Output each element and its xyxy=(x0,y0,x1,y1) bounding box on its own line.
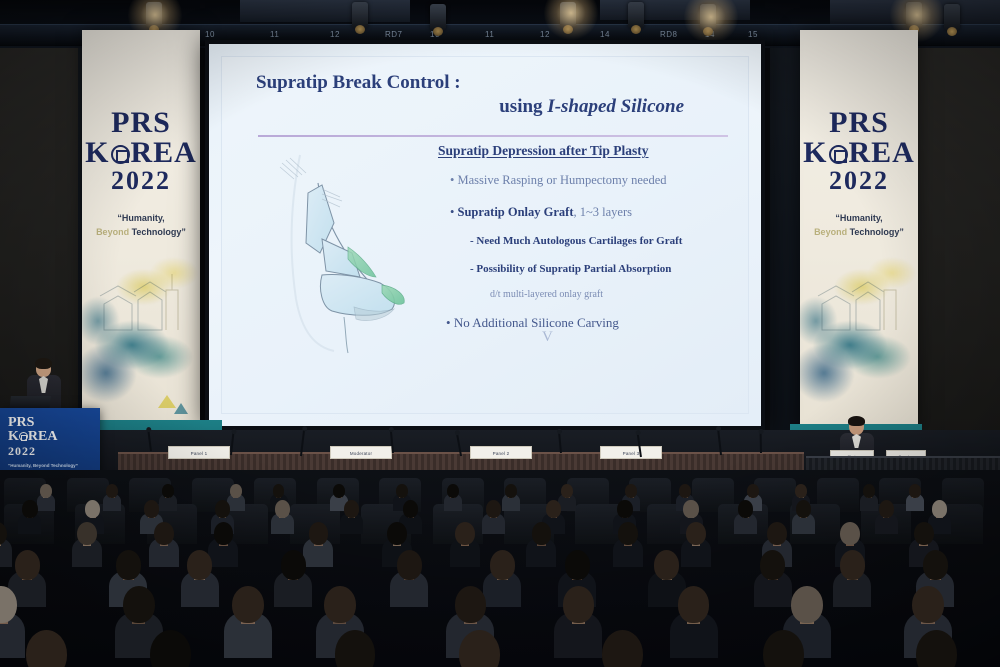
audience-head xyxy=(863,484,875,498)
audience-member xyxy=(734,500,757,537)
screen-surface: Supratip Break Control : using I-shaped … xyxy=(209,44,761,426)
audience-member xyxy=(906,484,924,513)
audience-head xyxy=(215,500,230,518)
audience-head xyxy=(763,630,804,667)
moderator-hair xyxy=(848,416,865,426)
audience-head xyxy=(273,484,285,498)
audience-head xyxy=(565,550,590,580)
banner-year-text: 2022 xyxy=(82,168,200,194)
audience-head xyxy=(654,550,679,580)
panel-nameplate: Panel 2 xyxy=(470,446,532,459)
banner-triangle xyxy=(174,403,188,414)
audience-head xyxy=(747,484,759,498)
ceiling-slab xyxy=(600,0,750,20)
audience-member xyxy=(224,586,272,663)
slide-bullet-6: • No Additional Silicone Carving xyxy=(446,315,619,331)
slide-title: Supratip Break Control : using I-shaped … xyxy=(256,71,728,120)
stage-light-icon xyxy=(628,2,644,28)
audience-member xyxy=(613,522,643,570)
presentation-slide: Supratip Break Control : using I-shaped … xyxy=(221,56,749,414)
conference-hall-photo: 101112RD710111214RD81415 PRS KREA 2022 “… xyxy=(0,0,1000,667)
audience-head xyxy=(602,630,643,667)
banner-left: PRS KREA 2022 “Humanity, Beyond Technolo… xyxy=(82,30,200,430)
audience-head xyxy=(617,500,632,518)
audience-member xyxy=(18,500,41,537)
stage-light-icon xyxy=(146,2,162,28)
audience-member xyxy=(526,522,556,570)
korea-emblem-icon xyxy=(19,432,28,441)
stage-light-icon xyxy=(944,4,960,30)
audience-head xyxy=(618,522,638,545)
slide-bullet-4: - Possibility of Supratip Partial Absorp… xyxy=(470,263,671,275)
audience-head xyxy=(309,522,329,545)
audience-member xyxy=(482,500,505,537)
audience-head xyxy=(154,522,174,545)
korea-emblem-icon xyxy=(111,145,130,164)
audience-head xyxy=(767,522,787,545)
slide-section-heading: Supratip Depression after Tip Plasty xyxy=(438,143,649,159)
audience-head xyxy=(403,500,418,518)
audience-member xyxy=(450,522,480,570)
audience-head xyxy=(678,586,710,623)
presenter-hair xyxy=(35,358,52,369)
projection-screen: Supratip Break Control : using I-shaped … xyxy=(205,40,765,430)
audience-head xyxy=(344,500,359,518)
stage-light-icon xyxy=(906,2,922,28)
audience-head xyxy=(162,484,174,498)
audience-member xyxy=(181,550,219,611)
audience-head xyxy=(150,630,191,667)
audience-member xyxy=(16,630,78,667)
audience-member xyxy=(139,630,201,667)
audience-member xyxy=(875,500,898,537)
audience-head xyxy=(77,522,97,545)
panel-nameplate: Moderator xyxy=(330,446,392,459)
audience-member xyxy=(444,484,462,513)
banner-year-text: 2022 xyxy=(800,168,918,194)
audience-member xyxy=(274,550,312,611)
podium-year-text: 2022 xyxy=(8,445,57,457)
audience-member xyxy=(670,586,718,663)
truss-marker: 11 xyxy=(485,30,494,39)
audience-head xyxy=(932,500,947,518)
truss-marker: 10 xyxy=(205,30,215,39)
audience-head xyxy=(396,484,408,498)
audience-member xyxy=(103,484,121,513)
title-divider xyxy=(258,135,728,137)
audience-head xyxy=(459,630,500,667)
podium-prs-text: PRS xyxy=(8,416,57,430)
audience-head xyxy=(760,550,785,580)
audience-head xyxy=(840,550,865,580)
slide-bullet-1: • Massive Rasping or Humpectomy needed xyxy=(450,173,667,188)
audience-head xyxy=(15,550,40,580)
audience-member xyxy=(324,630,386,667)
truss-marker: 12 xyxy=(330,30,340,39)
audience-head xyxy=(561,484,573,498)
audience-head xyxy=(144,500,159,518)
banner-korea-text: KREA xyxy=(82,138,200,168)
audience-head xyxy=(791,586,823,623)
podium-tagline: “Humanity, Beyond Technology” xyxy=(8,463,78,468)
audience-head xyxy=(679,484,691,498)
audience-head xyxy=(796,500,811,518)
audience-head xyxy=(914,522,934,545)
audience-head xyxy=(923,550,948,580)
banner-prs-text: PRS xyxy=(82,108,200,138)
slide-title-line1: Supratip Break Control : xyxy=(256,72,461,93)
audience-member xyxy=(340,500,363,537)
audience-area xyxy=(0,470,1000,667)
audience-head xyxy=(840,522,860,545)
banner-right: PRS KREA 2022 “Humanity, Beyond Technolo… xyxy=(800,30,918,430)
audience-member xyxy=(149,522,179,570)
stage-light-icon xyxy=(352,2,368,28)
audience-head xyxy=(546,500,561,518)
audience-head xyxy=(738,500,753,518)
audience-head xyxy=(397,550,422,580)
audience-head xyxy=(909,484,921,498)
audience-head xyxy=(281,550,306,580)
audience-head xyxy=(85,500,100,518)
audience-head xyxy=(214,522,234,545)
audience-head xyxy=(232,586,264,623)
audience-member xyxy=(271,500,294,537)
audience-member xyxy=(833,550,871,611)
truss-marker: 11 xyxy=(270,30,279,39)
slide-bullet-5: d/t multi-layered onlay graft xyxy=(490,289,603,300)
audience-member xyxy=(449,630,511,667)
panel-nameplate: Panel 3 xyxy=(600,446,662,459)
audience-head xyxy=(387,522,407,545)
audience-head xyxy=(916,630,957,667)
banner-logo: PRS KREA 2022 xyxy=(82,108,200,194)
audience-head xyxy=(795,484,807,498)
audience-head xyxy=(22,500,37,518)
audience-head xyxy=(335,630,376,667)
audience-head xyxy=(455,586,487,623)
audience-head xyxy=(333,484,345,498)
audience-head xyxy=(505,484,517,498)
audience-head xyxy=(625,484,637,498)
audience-head xyxy=(490,550,515,580)
audience-head xyxy=(26,630,67,667)
microphone-icon xyxy=(760,432,762,453)
audience-head xyxy=(324,586,356,623)
audience-head xyxy=(683,500,698,518)
audience-head xyxy=(486,500,501,518)
audience-head xyxy=(455,522,475,545)
audience-member xyxy=(906,630,968,667)
truss-marker: RD8 xyxy=(660,30,678,39)
nasal-anatomy-illustration xyxy=(256,149,426,354)
banner-architecture-sketch xyxy=(98,270,194,338)
wall-panel xyxy=(912,48,1000,468)
ceiling-slab xyxy=(240,0,410,22)
truss-marker: RD7 xyxy=(385,30,403,39)
slide-title-line2: using I-shaped Silicone xyxy=(256,95,728,119)
audience-member xyxy=(792,500,815,537)
audience-head xyxy=(187,550,212,580)
audience-member xyxy=(591,630,653,667)
audience-head xyxy=(123,586,155,623)
korea-emblem-icon xyxy=(829,145,848,164)
audience-head xyxy=(563,586,595,623)
stage-light-icon xyxy=(430,4,446,30)
audience-head xyxy=(275,500,290,518)
banner-architecture-sketch xyxy=(816,270,912,338)
truss-marker: 12 xyxy=(540,30,550,39)
audience-head xyxy=(116,550,141,580)
audience-member xyxy=(390,550,428,611)
audience-head xyxy=(230,484,242,498)
stage-light-icon xyxy=(700,4,716,30)
audience-member xyxy=(72,522,102,570)
slide-bullet-3: - Need Much Autologous Cartilages for Gr… xyxy=(470,235,682,247)
podium-korea-text: KREA xyxy=(8,430,57,444)
slide-corner-mark: V xyxy=(542,329,553,346)
banner-logo: PRS KREA 2022 xyxy=(800,108,918,194)
audience-head xyxy=(447,484,459,498)
audience-head xyxy=(879,500,894,518)
podium-logo: PRS KREA 2022 xyxy=(8,416,57,457)
slide-bullet-2: • Supratip Onlay Graft, 1~3 layers xyxy=(450,205,632,220)
audience-head xyxy=(912,586,944,623)
banner-korea-text: KREA xyxy=(800,138,918,168)
audience-head xyxy=(40,484,52,498)
audience-head xyxy=(532,522,552,545)
audience-head xyxy=(686,522,706,545)
panel-nameplate: Panel 1 xyxy=(168,446,230,459)
stage-light-icon xyxy=(560,2,576,28)
audience-member xyxy=(752,630,814,667)
banner-prs-text: PRS xyxy=(800,108,918,138)
truss-marker: 14 xyxy=(600,30,610,39)
truss-marker: 15 xyxy=(748,30,758,39)
